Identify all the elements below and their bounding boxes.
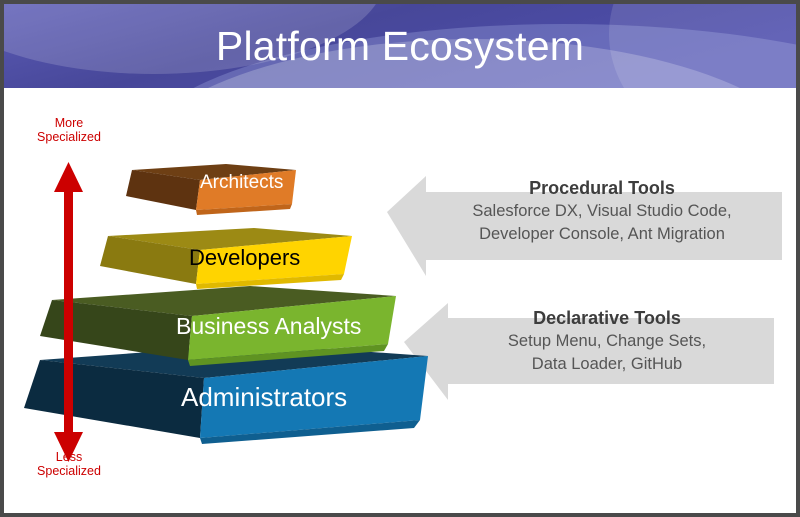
- tier-label-business-analysts: Business Analysts: [176, 313, 361, 340]
- diagram-page: Platform Ecosystem: [0, 0, 800, 517]
- axis-label-more-line2: Specialized: [14, 130, 124, 144]
- header-banner: Platform Ecosystem: [4, 4, 796, 88]
- axis-label-less-line1: Less: [14, 450, 124, 464]
- page-title: Platform Ecosystem: [4, 4, 796, 88]
- tier-label-architects: Architects: [200, 172, 283, 194]
- procedural-callout-title: Procedural Tools: [422, 176, 782, 200]
- axis-label-more-specialized: More Specialized: [14, 116, 124, 144]
- axis-label-less-specialized: Less Specialized: [14, 450, 124, 478]
- procedural-callout-text: Procedural Tools Salesforce DX, Visual S…: [422, 176, 782, 246]
- diagram-stage: More Specialized Less Specialized Archit…: [4, 88, 796, 513]
- tier-label-administrators: Administrators: [181, 382, 347, 413]
- declarative-callout-title: Declarative Tools: [442, 306, 772, 330]
- procedural-callout-line1: Salesforce DX, Visual Studio Code,: [422, 200, 782, 223]
- declarative-callout-line1: Setup Menu, Change Sets,: [442, 330, 772, 353]
- declarative-callout-line2: Data Loader, GitHub: [442, 353, 772, 376]
- tier-label-developers: Developers: [189, 245, 300, 271]
- declarative-callout-text: Declarative Tools Setup Menu, Change Set…: [442, 306, 772, 376]
- axis-label-more-line1: More: [14, 116, 124, 130]
- axis-label-less-line2: Specialized: [14, 464, 124, 478]
- procedural-callout-line2: Developer Console, Ant Migration: [422, 223, 782, 246]
